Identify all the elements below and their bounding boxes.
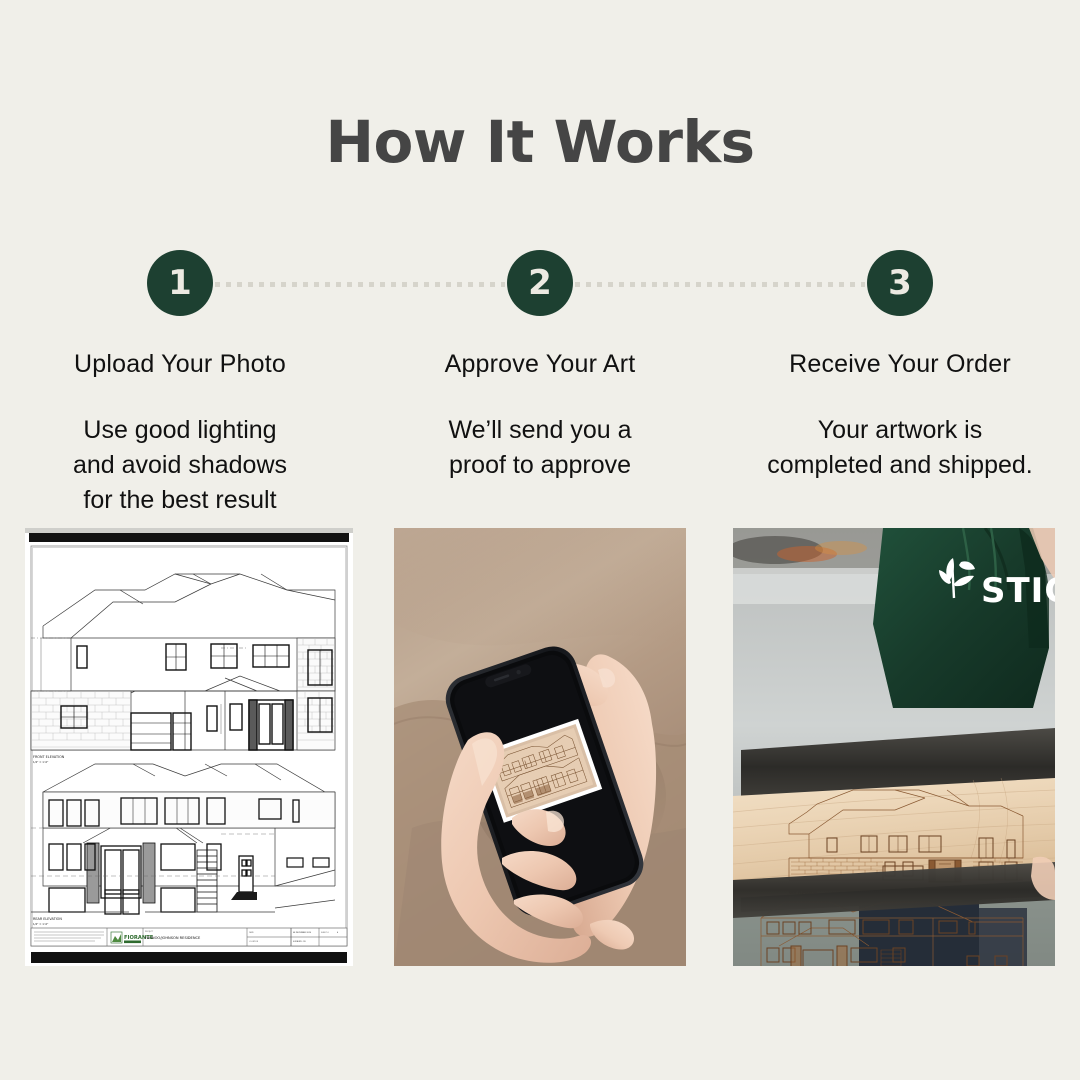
svg-text:SUDBURY, ON: SUDBURY, ON (293, 941, 306, 943)
svg-text:FRONT ELEVATION: FRONT ELEVATION (33, 755, 65, 759)
step-2-image (394, 528, 686, 966)
step-title-3: Receive Your Order (789, 350, 1011, 379)
svg-text:LOCATION: LOCATION (249, 940, 259, 943)
step-title-1: Upload Your Photo (74, 350, 286, 379)
image-panels-row: FRONT ELEVATION 1/4" = 1'-0" REAR ELEVAT… (0, 528, 1080, 968)
svg-text:PROJECT: PROJECT (145, 931, 154, 933)
step-number-badge-3: 3 (867, 250, 933, 316)
svg-text:08 DECEMBER 2020: 08 DECEMBER 2020 (293, 932, 312, 934)
step-connector-1-to-2 (215, 282, 505, 287)
svg-text:1/4" = 1'-0": 1/4" = 1'-0" (33, 760, 48, 764)
svg-text:SHEET 4: SHEET 4 (321, 932, 329, 934)
step-body-1: Use good lighting and avoid shadows for … (73, 413, 287, 518)
step-1: 1 Upload Your Photo Use good lighting an… (0, 250, 360, 518)
step-2: 2 Approve Your Art We’ll send you a proo… (360, 250, 720, 518)
step-3: 3 Receive Your Order Your artwork is com… (720, 250, 1080, 518)
svg-text:STICK: STICK (981, 571, 1055, 611)
step-body-2: We’ll send you a proof to approve (449, 413, 632, 483)
step-title-2: Approve Your Art (445, 350, 636, 379)
step-3-image: STICK (733, 528, 1055, 966)
svg-text:REAR ELEVATION: REAR ELEVATION (33, 917, 62, 921)
svg-text:1/4" = 1'-0": 1/4" = 1'-0" (33, 922, 48, 926)
step-number-badge-1: 1 (147, 250, 213, 316)
step-connector-2-to-3 (575, 282, 865, 287)
step-1-image: FRONT ELEVATION 1/4" = 1'-0" REAR ELEVAT… (25, 528, 353, 966)
page-title: How It Works (0, 108, 1080, 176)
step-body-3: Your artwork is completed and shipped. (767, 413, 1032, 483)
svg-text:FAHNOO/JOHNSON RESIDENCE: FAHNOO/JOHNSON RESIDENCE (145, 936, 201, 940)
step-number-badge-2: 2 (507, 250, 573, 316)
steps-row: 1 Upload Your Photo Use good lighting an… (0, 250, 1080, 518)
